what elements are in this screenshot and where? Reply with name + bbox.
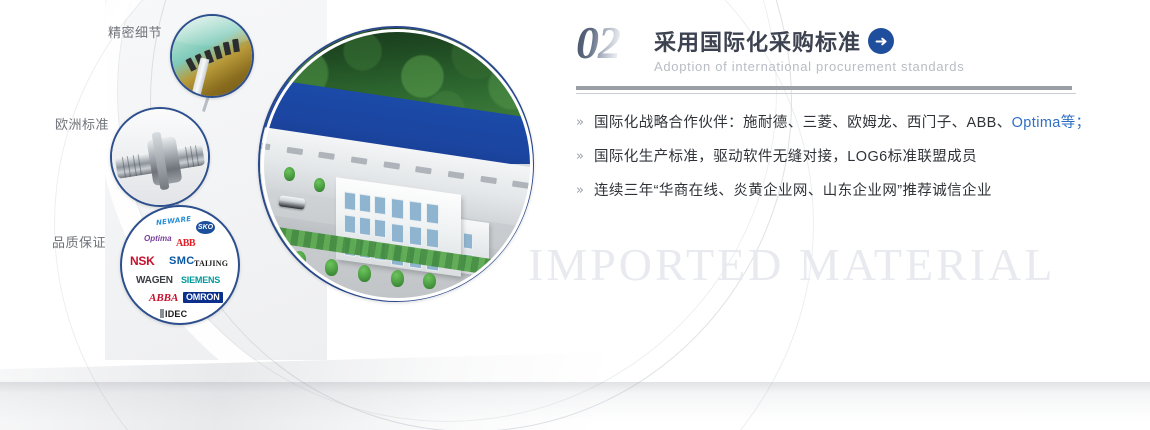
logo-smc: SMC [169,256,195,267]
section-root: 精密细节 欧洲标准 品质保证 [0,0,1150,430]
smc-mark-icon [121,206,138,219]
section-number: 02 [576,20,620,66]
tree [293,251,306,268]
header-divider [576,86,1076,94]
logo-neware: NEWARE [156,216,192,227]
list-item: » 连续三年“华商在线、炎黄企业网、山东企业网”推荐诚信企业 [576,181,1076,201]
tree [325,259,338,276]
tree [423,273,436,289]
tree [284,167,295,181]
logo-sko: SKO [196,221,215,234]
logo-abb: ABB [176,239,195,249]
quality-assurance-circle: NEWARE SKO Optima ABB NSK SMC TAIJING WA… [120,205,240,325]
label-precision-detail: 精密细节 [108,22,162,41]
section-subtitle: Adoption of international procurement st… [654,59,964,74]
watermark-text: IMPORTED MATERIAL [528,238,1055,291]
logo-siemens: SIEMENS [181,276,220,285]
chevron-double-right-icon: » [576,147,594,167]
section-content: 02 采用国际化采购标准 Adoption of international p… [576,22,1076,215]
precision-detail-circle [170,14,254,98]
logo-abba: ABBA [149,293,178,304]
list-item-text-main: 国际化战略合作伙伴：施耐德、三菱、欧姆龙、西门子、ABB、 [594,115,1012,131]
logo-idec-text: IDEC [165,309,187,319]
logo-taijing: TAIJING [194,260,228,268]
label-quality-assurance: 品质保证 [52,232,106,251]
tree [358,265,371,282]
list-item-text: 连续三年“华商在线、炎黄企业网、山东企业网”推荐诚信企业 [594,181,992,201]
floor-shadow-band [0,382,1150,422]
logo-omron: OMRON [183,292,223,303]
logo-idec: IDEC [160,309,187,319]
list-item-text-accent: Optima等； [1012,115,1091,131]
tree [314,178,325,192]
section-header: 02 采用国际化采购标准 Adoption of international p… [576,22,1076,84]
label-european-standard: 欧洲标准 [55,114,109,133]
logo-wagen: WAGEN [136,276,173,286]
page-title: 采用国际化采购标准 [654,25,861,57]
european-standard-circle [110,107,210,207]
list-item: » 国际化战略合作伙伴：施耐德、三菱、欧姆龙、西门子、ABB、Optima等； [576,113,1076,133]
arrow-right-icon[interactable] [868,28,894,54]
list-item-text: 国际化生产标准，驱动软件无缝对接，LOG6标准联盟成员 [594,147,977,167]
tree [391,270,404,287]
logo-optima: Optima [144,235,172,243]
gear-gloss [170,14,254,46]
list-item-text: 国际化战略合作伙伴：施耐德、三菱、欧姆龙、西门子、ABB、Optima等； [594,113,1091,133]
bullet-list: » 国际化战略合作伙伴：施耐德、三菱、欧姆龙、西门子、ABB、Optima等； … [576,113,1076,201]
logo-nsk: NSK [130,255,154,267]
chevron-double-right-icon: » [576,113,594,133]
list-item-text-main: 连续三年“华商在线、炎黄企业网、山东企业网”推荐诚信企业 [594,183,992,199]
list-item: » 国际化生产标准，驱动软件无缝对接，LOG6标准联盟成员 [576,147,1076,167]
chevron-double-right-icon: » [576,181,594,201]
factory-aerial-photo [258,26,534,302]
list-item-text-main: 国际化生产标准，驱动软件无缝对接，LOG6标准联盟成员 [594,149,977,165]
